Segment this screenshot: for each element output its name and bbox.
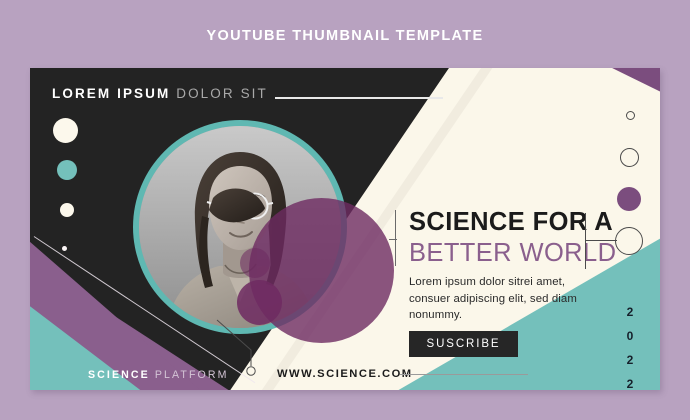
header-divider-line — [275, 97, 443, 99]
header-light-text: DOLOR SIT — [176, 86, 268, 101]
decor-circle-outline-medium — [620, 148, 639, 167]
headline-line-1: SCIENCE FOR A — [409, 208, 613, 237]
footer-brand-bold: SCIENCE — [88, 369, 150, 381]
decor-connector-horizontal-line — [585, 240, 617, 241]
footer-brand-light: PLATFORM — [155, 369, 229, 381]
header-bold-text: LOREM IPSUM — [52, 86, 170, 101]
thumbnail-template-canvas: YOUTUBE THUMBNAIL TEMPLATE LOREM IPSUM D… — [0, 0, 690, 420]
decor-circle-filled-purple — [617, 187, 641, 211]
decor-dot-teal — [57, 160, 77, 180]
decor-circle-outline-large — [615, 227, 643, 255]
overlay-circle-purple-small — [240, 248, 270, 278]
decor-dot-cream-large — [53, 118, 78, 143]
page-title: YOUTUBE THUMBNAIL TEMPLATE — [0, 28, 690, 44]
decor-dot-white-tiny — [62, 246, 67, 251]
decor-circle-outline-small — [626, 111, 635, 120]
decor-dot-cream-small — [60, 203, 74, 217]
year-digit-1: 0 — [620, 324, 640, 348]
footer-divider-line — [400, 374, 528, 375]
headline-left-tick-vertical — [395, 210, 396, 266]
body-copy: Lorem ipsum dolor sitrei amet, consuer a… — [409, 274, 589, 324]
year-digit-2: 2 — [620, 348, 640, 372]
year-digit-0: 2 — [620, 300, 640, 324]
headline-left-tick-horizontal — [389, 239, 397, 240]
subscribe-button[interactable]: SUSCRIBE — [409, 331, 518, 357]
card-header-text: LOREM IPSUM DOLOR SIT — [52, 86, 268, 101]
year-label: 2 0 2 2 — [620, 300, 640, 396]
footer-website-url: WWW.SCIENCE.COM — [277, 368, 413, 380]
footer-brand: SCIENCE PLATFORM — [88, 369, 229, 381]
year-digit-3: 2 — [620, 372, 640, 396]
